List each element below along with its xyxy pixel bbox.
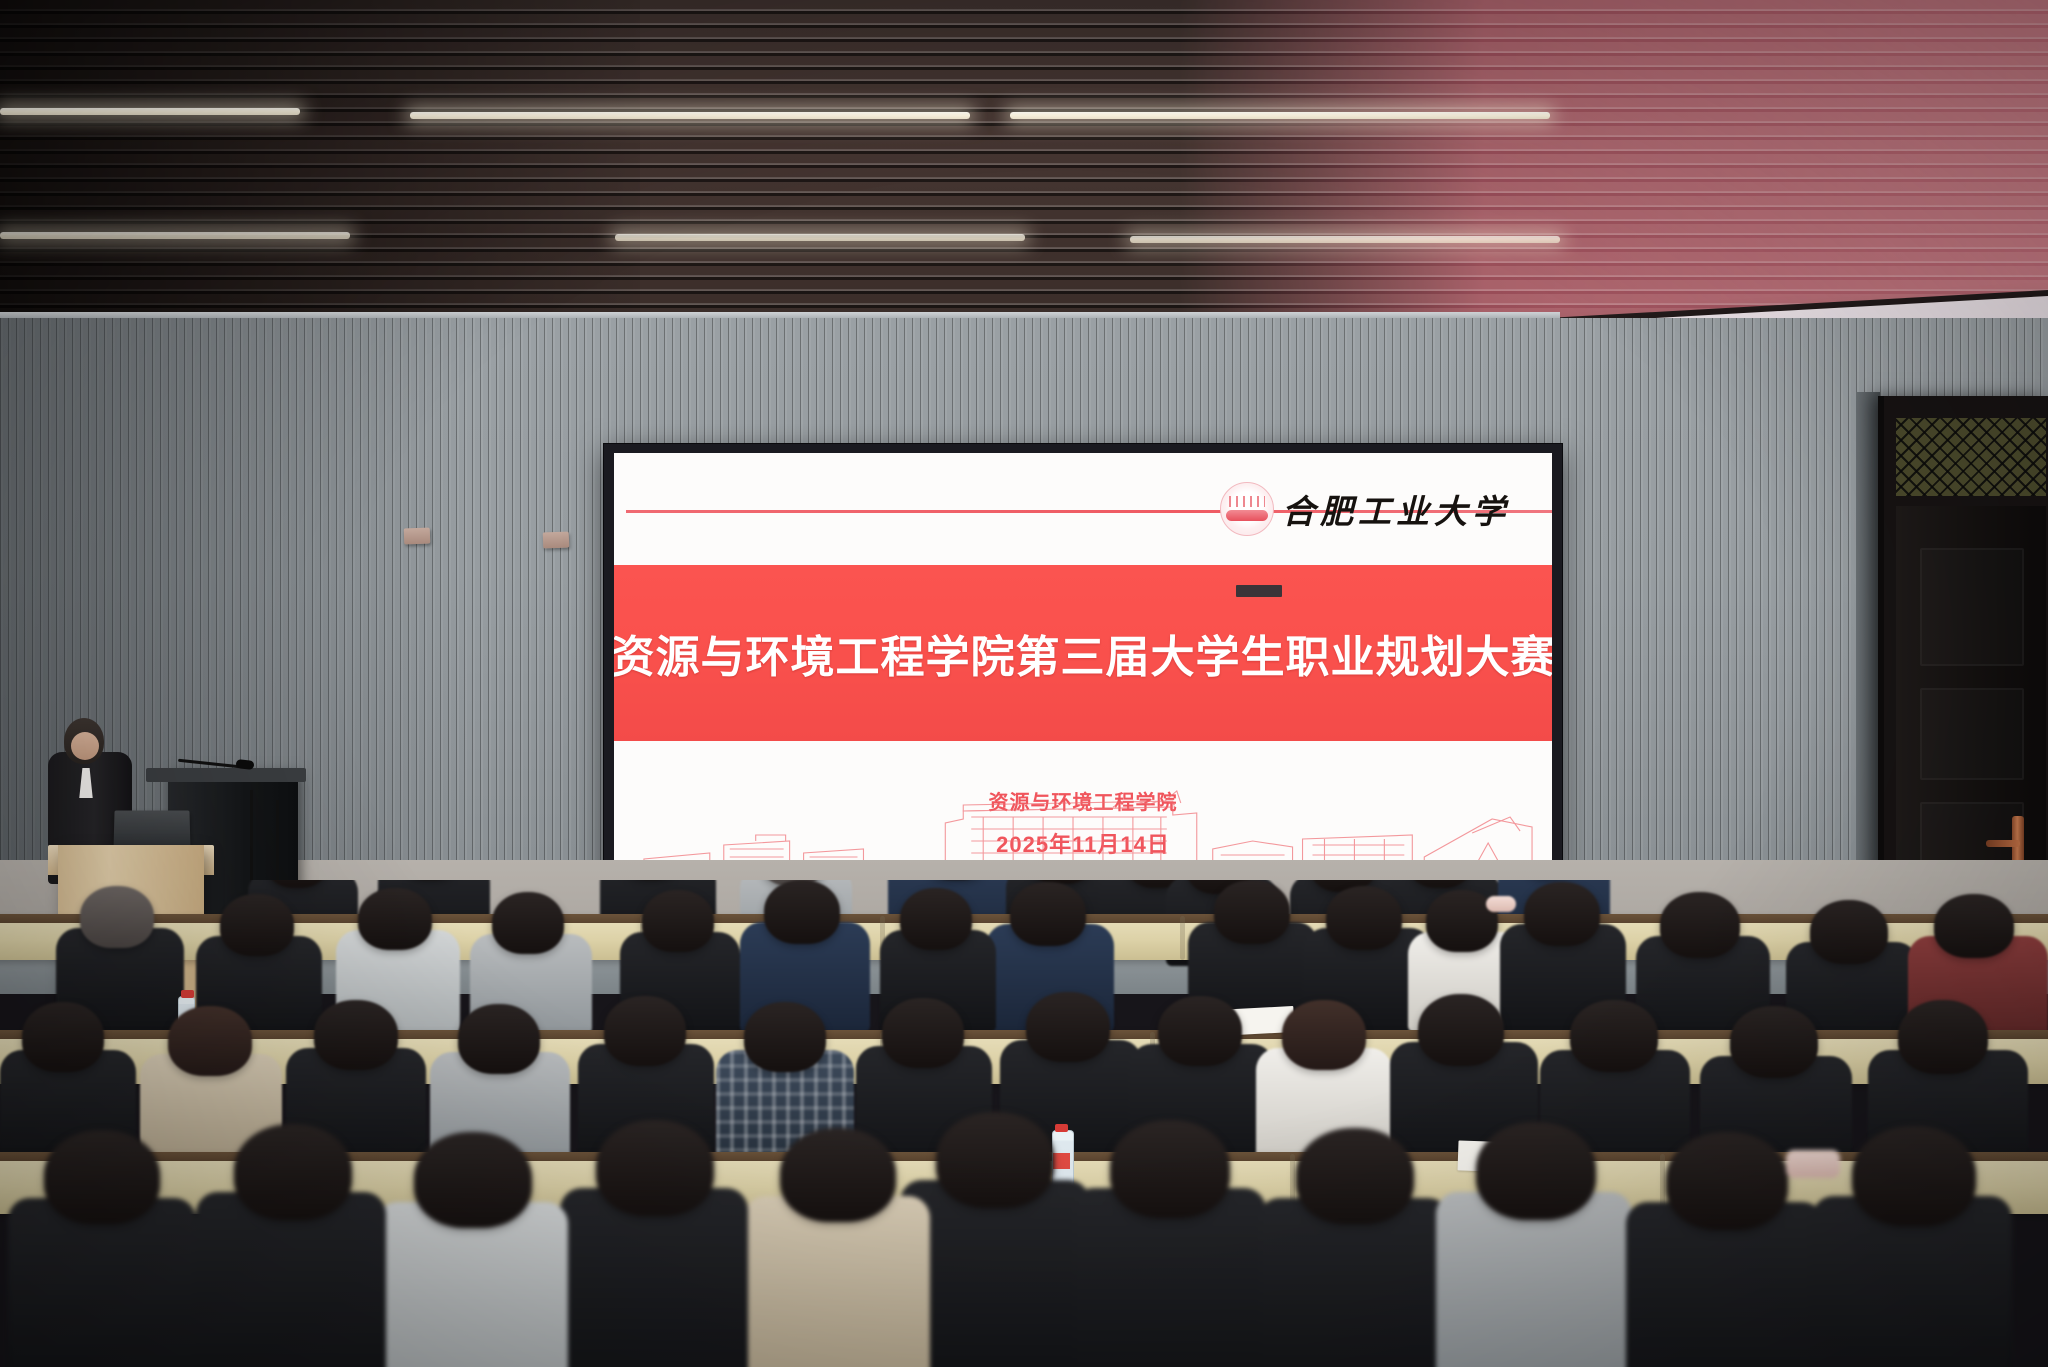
auditorium-side-door[interactable]	[1878, 396, 2048, 896]
door-handle[interactable]	[2012, 816, 2024, 864]
ceiling-light-strip	[615, 234, 1025, 241]
ceiling-light-strip	[1010, 112, 1550, 119]
ceiling-light-strip	[1130, 236, 1560, 243]
wall-mount-plate	[404, 528, 431, 545]
audience-member	[1898, 1000, 1988, 1074]
audience-member	[414, 1132, 532, 1228]
audience-member	[900, 888, 972, 950]
audience-member	[744, 1002, 826, 1072]
audience-member	[358, 888, 432, 950]
audience-member	[1524, 882, 1600, 946]
presenter-face	[71, 732, 99, 760]
audience-member	[80, 886, 154, 948]
ceiling-light-strip	[410, 112, 970, 119]
audience-member	[234, 1124, 352, 1220]
seat-divider	[1180, 916, 1185, 960]
audience-member	[604, 996, 686, 1066]
audience-member	[168, 1006, 252, 1076]
slide-title: 资源与环境工程学院第三届大学生职业规划大赛	[614, 621, 1552, 685]
university-logo: 合肥工业大学	[1220, 470, 1510, 548]
slide-title-band: 资源与环境工程学院第三届大学生职业规划大赛	[614, 565, 1552, 741]
presentation-slide: 合肥工业大学 资源与环境工程学院第三届大学生职业规划大赛 资源与环境工程学院 2…	[614, 453, 1552, 927]
audience-member	[220, 894, 294, 956]
lecture-hall-scene: 合肥工业大学 资源与环境工程学院第三届大学生职业规划大赛 资源与环境工程学院 2…	[0, 0, 2048, 1367]
av-rack-top	[146, 768, 306, 782]
audience-member	[44, 1130, 160, 1224]
audience-member	[1660, 892, 1740, 958]
audience-member	[1570, 1000, 1658, 1072]
accent-dash	[1236, 585, 1282, 597]
university-seal-icon	[1220, 482, 1274, 536]
audience-member	[764, 880, 840, 944]
door-panel	[1920, 548, 2024, 666]
audience-member	[1010, 882, 1086, 946]
audience-member	[458, 1004, 540, 1074]
audience-member	[1326, 886, 1402, 950]
audience-member	[1476, 1122, 1596, 1220]
audience-member	[1296, 1128, 1414, 1224]
audience-member	[314, 1000, 398, 1070]
audience-member	[882, 998, 964, 1068]
wall-mount-plate	[543, 532, 570, 549]
audience-member	[1934, 894, 2014, 958]
hair-clip-accessory	[1786, 1150, 1840, 1178]
audience-member	[1026, 992, 1110, 1062]
audience-member	[1666, 1132, 1788, 1230]
ceiling-light-strip	[0, 108, 300, 115]
audience-member	[492, 892, 564, 954]
ceiling-light-strip	[0, 232, 350, 239]
audience-member	[1158, 996, 1242, 1066]
audience-member	[1110, 1120, 1230, 1218]
university-logo-text: 合肥工业大学	[1282, 485, 1510, 533]
hair-clip-accessory	[1486, 896, 1516, 912]
audience-member	[1810, 900, 1888, 964]
audience-member	[780, 1128, 896, 1222]
audience-member	[936, 1112, 1054, 1208]
audience-member	[642, 890, 714, 952]
microphone-icon	[236, 759, 255, 770]
door-leaf[interactable]	[1896, 506, 2046, 891]
audience-member	[1730, 1006, 1818, 1078]
door-jamb	[1856, 392, 1880, 896]
audience-member	[1418, 994, 1504, 1066]
door-transom-glass	[1896, 418, 2046, 496]
slatted-ceiling	[0, 0, 2048, 330]
audience-area	[0, 880, 2048, 1367]
audience-member	[596, 1120, 714, 1216]
audience-member	[22, 1002, 104, 1072]
slide-header: 合肥工业大学	[614, 453, 1552, 565]
audience-member	[1282, 1000, 1366, 1070]
audience-member	[1852, 1126, 1976, 1226]
audience-member	[1214, 880, 1290, 944]
door-panel	[1920, 688, 2024, 780]
